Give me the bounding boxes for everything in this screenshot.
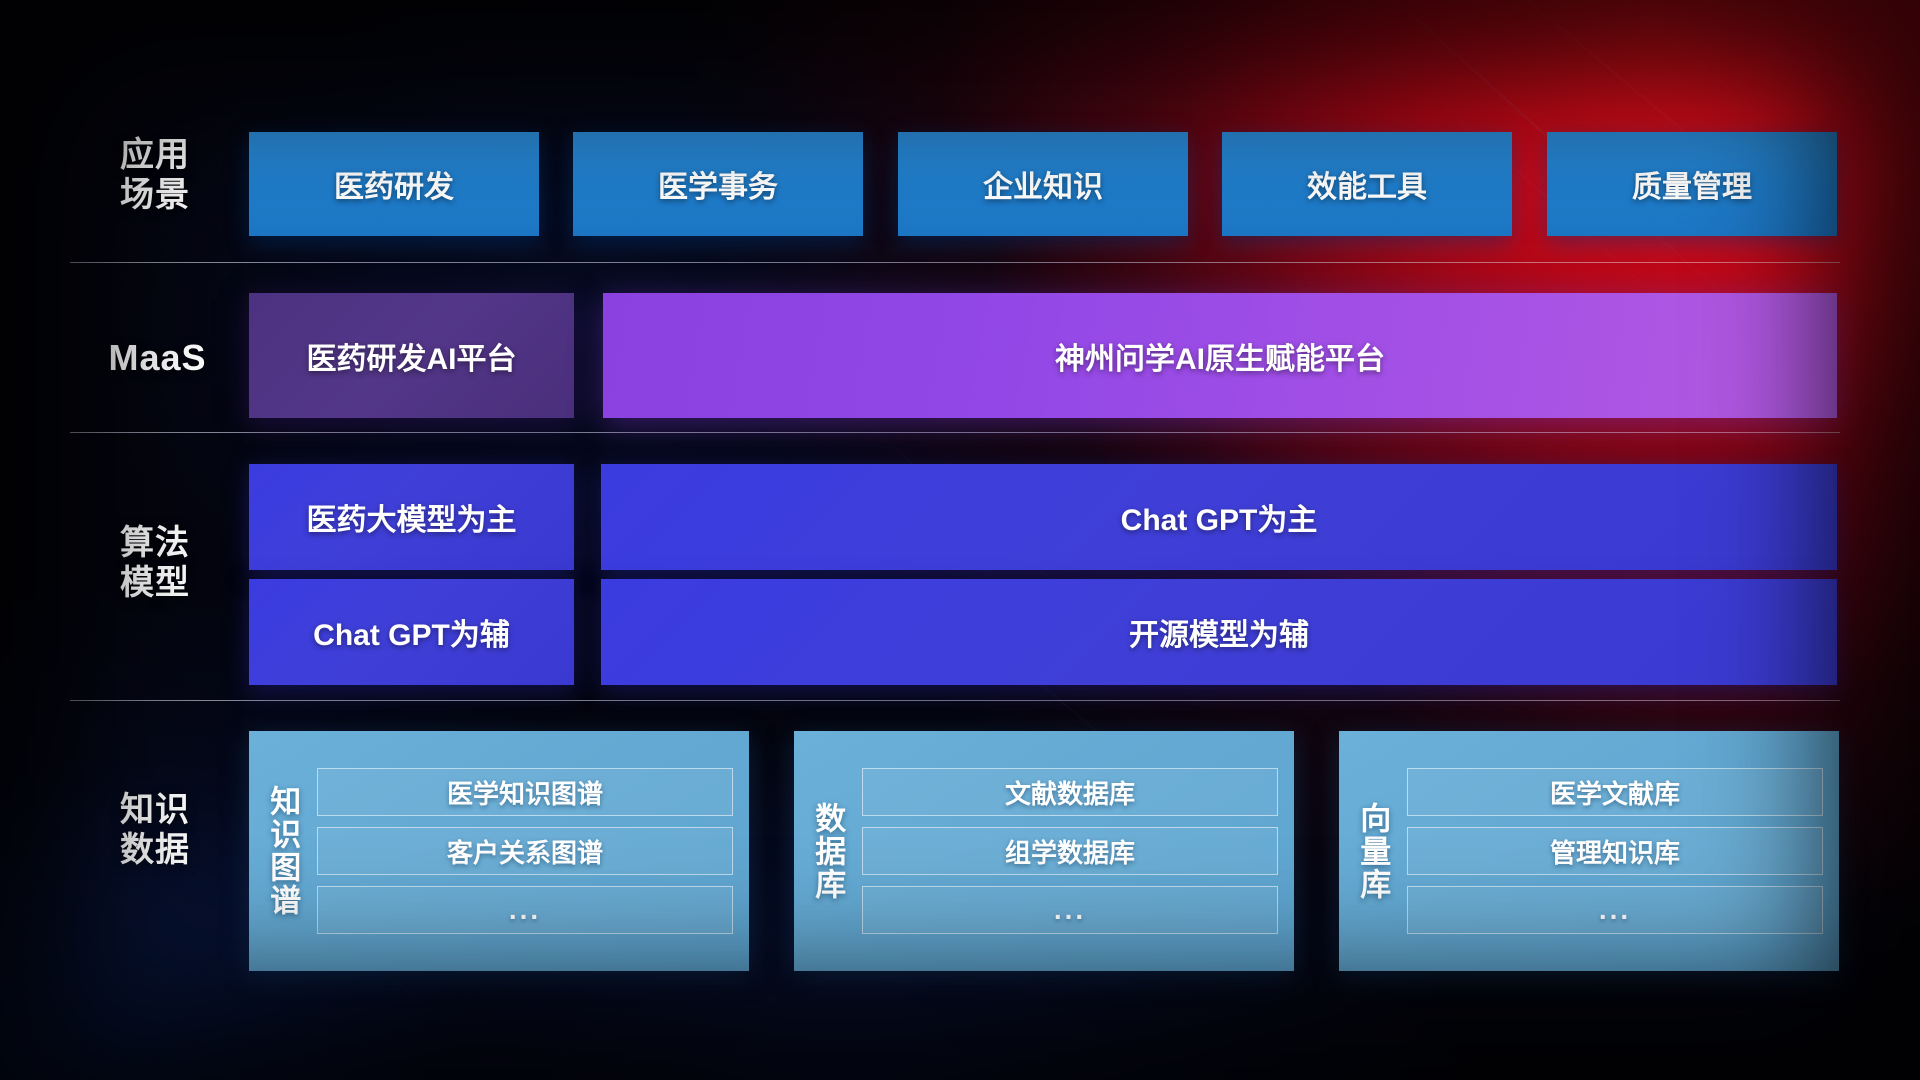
app-box-1[interactable]: 医药研发 [249, 132, 539, 236]
row-label-maas-line1: MaaS [75, 337, 240, 379]
knowledge-panel-database-items: 文献数据库 组学数据库 ... [860, 731, 1294, 971]
app-box-3-label: 企业知识 [983, 162, 1103, 206]
knowledge-item[interactable]: ... [862, 886, 1278, 934]
app-box-2-label: 医学事务 [658, 162, 778, 206]
divider-2 [70, 432, 1840, 433]
diagram-content: 应用 场景 医药研发 医学事务 企业知识 效能工具 质量管理 MaaS 医药研发… [0, 0, 1920, 1080]
app-box-5-label: 质量管理 [1632, 162, 1752, 206]
algo-box-opensource-aux-label: 开源模型为辅 [1129, 610, 1309, 654]
app-box-1-label: 医药研发 [334, 162, 454, 206]
row-label-knowledge-line2: 数据 [80, 830, 230, 870]
algo-box-chatgpt-main[interactable]: Chat GPT为主 [601, 464, 1837, 570]
maas-box-shenzhou-platform-label: 神州问学AI原生赋能平台 [1055, 334, 1385, 378]
knowledge-panel-graph-items: 医学知识图谱 客户关系图谱 ... [315, 731, 749, 971]
row-label-algorithm-line2: 模型 [80, 563, 230, 603]
algo-box-pharma-main[interactable]: 医药大模型为主 [249, 464, 574, 570]
app-box-5[interactable]: 质量管理 [1547, 132, 1837, 236]
knowledge-item[interactable]: 管理知识库 [1407, 827, 1823, 875]
app-box-3[interactable]: 企业知识 [898, 132, 1188, 236]
divider-1 [70, 262, 1840, 263]
knowledge-panel-graph-side-label: 知识图谱 [249, 731, 315, 971]
algo-box-pharma-main-label: 医药大模型为主 [307, 495, 517, 539]
maas-box-pharma-platform[interactable]: 医药研发AI平台 [249, 293, 574, 418]
row-label-knowledge-line1: 知识 [80, 790, 230, 830]
algo-box-chatgpt-aux[interactable]: Chat GPT为辅 [249, 579, 574, 685]
knowledge-item[interactable]: 组学数据库 [862, 827, 1278, 875]
algo-box-chatgpt-main-label: Chat GPT为主 [1121, 495, 1318, 539]
knowledge-item[interactable]: ... [1407, 886, 1823, 934]
knowledge-panel-database-side-label: 数据库 [794, 731, 860, 971]
knowledge-panel-vector-side-label: 向量库 [1339, 731, 1405, 971]
app-box-2[interactable]: 医学事务 [573, 132, 863, 236]
row-label-knowledge: 知识 数据 [80, 790, 230, 870]
row-label-application-line2: 场景 [80, 175, 230, 215]
app-box-4-label: 效能工具 [1307, 162, 1427, 206]
divider-3 [70, 700, 1840, 701]
row-label-application-line1: 应用 [80, 135, 230, 175]
knowledge-panel-database[interactable]: 数据库 文献数据库 组学数据库 ... [794, 731, 1294, 971]
algo-box-chatgpt-aux-label: Chat GPT为辅 [313, 610, 510, 654]
knowledge-item[interactable]: 医学文献库 [1407, 768, 1823, 816]
knowledge-panel-vector-items: 医学文献库 管理知识库 ... [1405, 731, 1839, 971]
knowledge-item[interactable]: 文献数据库 [862, 768, 1278, 816]
knowledge-item[interactable]: 医学知识图谱 [317, 768, 733, 816]
row-label-algorithm-line1: 算法 [80, 523, 230, 563]
row-label-algorithm: 算法 模型 [80, 523, 230, 603]
maas-box-pharma-platform-label: 医药研发AI平台 [307, 334, 517, 378]
knowledge-item[interactable]: ... [317, 886, 733, 934]
knowledge-panel-vector[interactable]: 向量库 医学文献库 管理知识库 ... [1339, 731, 1839, 971]
app-box-4[interactable]: 效能工具 [1222, 132, 1512, 236]
maas-box-shenzhou-platform[interactable]: 神州问学AI原生赋能平台 [603, 293, 1837, 418]
algo-box-opensource-aux[interactable]: 开源模型为辅 [601, 579, 1837, 685]
diagram-canvas: 应用 场景 医药研发 医学事务 企业知识 效能工具 质量管理 MaaS 医药研发… [0, 0, 1920, 1080]
row-label-application: 应用 场景 [80, 135, 230, 215]
row-label-maas: MaaS [75, 337, 240, 379]
knowledge-panel-graph[interactable]: 知识图谱 医学知识图谱 客户关系图谱 ... [249, 731, 749, 971]
knowledge-item[interactable]: 客户关系图谱 [317, 827, 733, 875]
